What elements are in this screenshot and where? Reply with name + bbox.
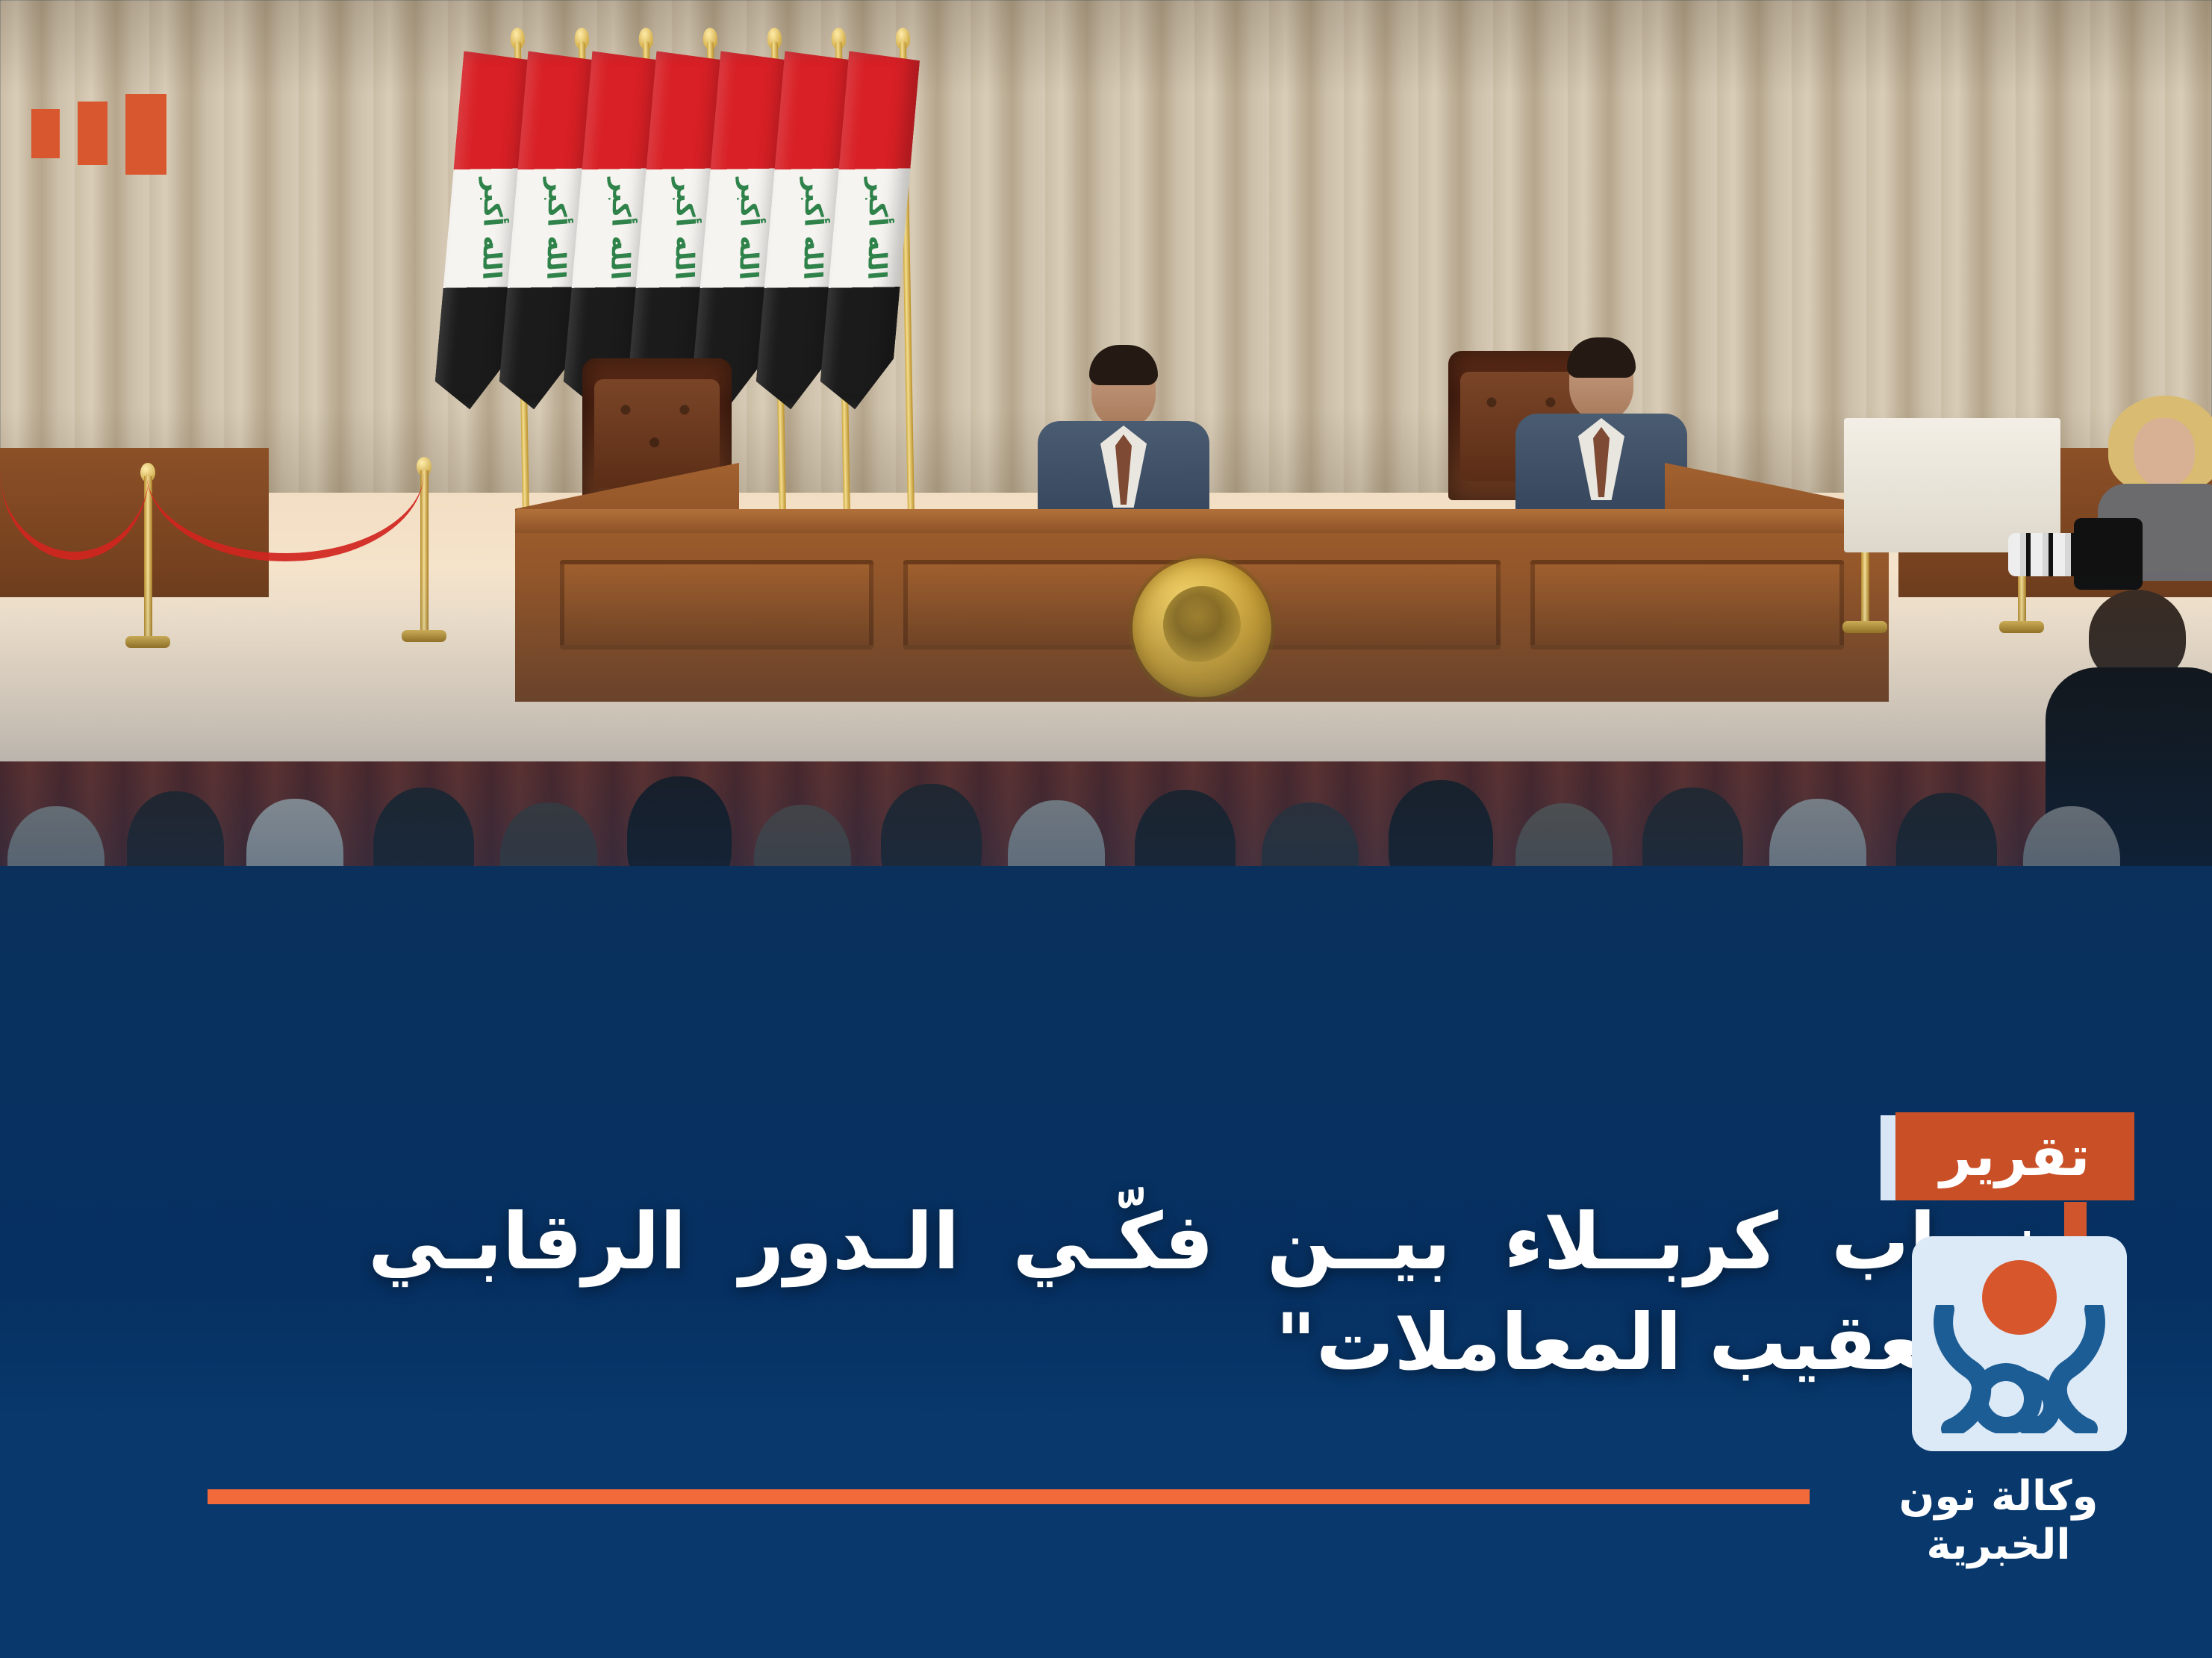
podium-counter-top [515, 509, 1889, 535]
agency-name: وكالة نون الخبرية [1843, 1472, 2164, 1569]
poster-canvas: الله أكبر الله أكبر الله أكبر الله أكبر [0, 0, 2212, 1658]
iraqi-flag-icon: الله أكبر [826, 44, 920, 493]
flag-motto: الله أكبر [525, 171, 570, 287]
headline-block: نـواب كربــلاء بيــن فكّـي الـدور الرقاب… [368, 1191, 2040, 1393]
corner-accent-bars [31, 94, 166, 175]
report-badge-label: تقرير [1940, 1129, 2090, 1184]
accent-bar-medium [78, 102, 108, 165]
headline-line-2: و"تعقيب المعاملات" [368, 1292, 2040, 1393]
headline-divider-rule [208, 1489, 1810, 1504]
accent-bar-tall [125, 94, 166, 175]
logo-noon-mark-icon [1931, 1305, 2107, 1433]
badge-edge-stripe [1881, 1115, 1895, 1200]
flag-motto: الله أكبر [589, 171, 634, 287]
headline-line-1: نـواب كربــلاء بيــن فكّـي الـدور الرقاب… [368, 1191, 2040, 1292]
official-hair [1089, 345, 1158, 385]
flag-motto: الله أكبر [461, 171, 505, 287]
report-badge: تقرير [1895, 1112, 2134, 1200]
accent-bar-short [31, 109, 60, 158]
official-hair [1567, 337, 1636, 378]
attendee-face [2134, 418, 2195, 487]
noon-agency-logo[interactable] [1912, 1236, 2127, 1451]
flag-motto: الله أكبر [653, 171, 698, 287]
flag-motto: الله أكبر [782, 171, 826, 287]
brand-block: تقرير وكالة نون الخبرية [1843, 1112, 2164, 1569]
flag-motto: الله أكبر [846, 171, 891, 287]
flag-motto: الله أكبر [717, 171, 762, 287]
